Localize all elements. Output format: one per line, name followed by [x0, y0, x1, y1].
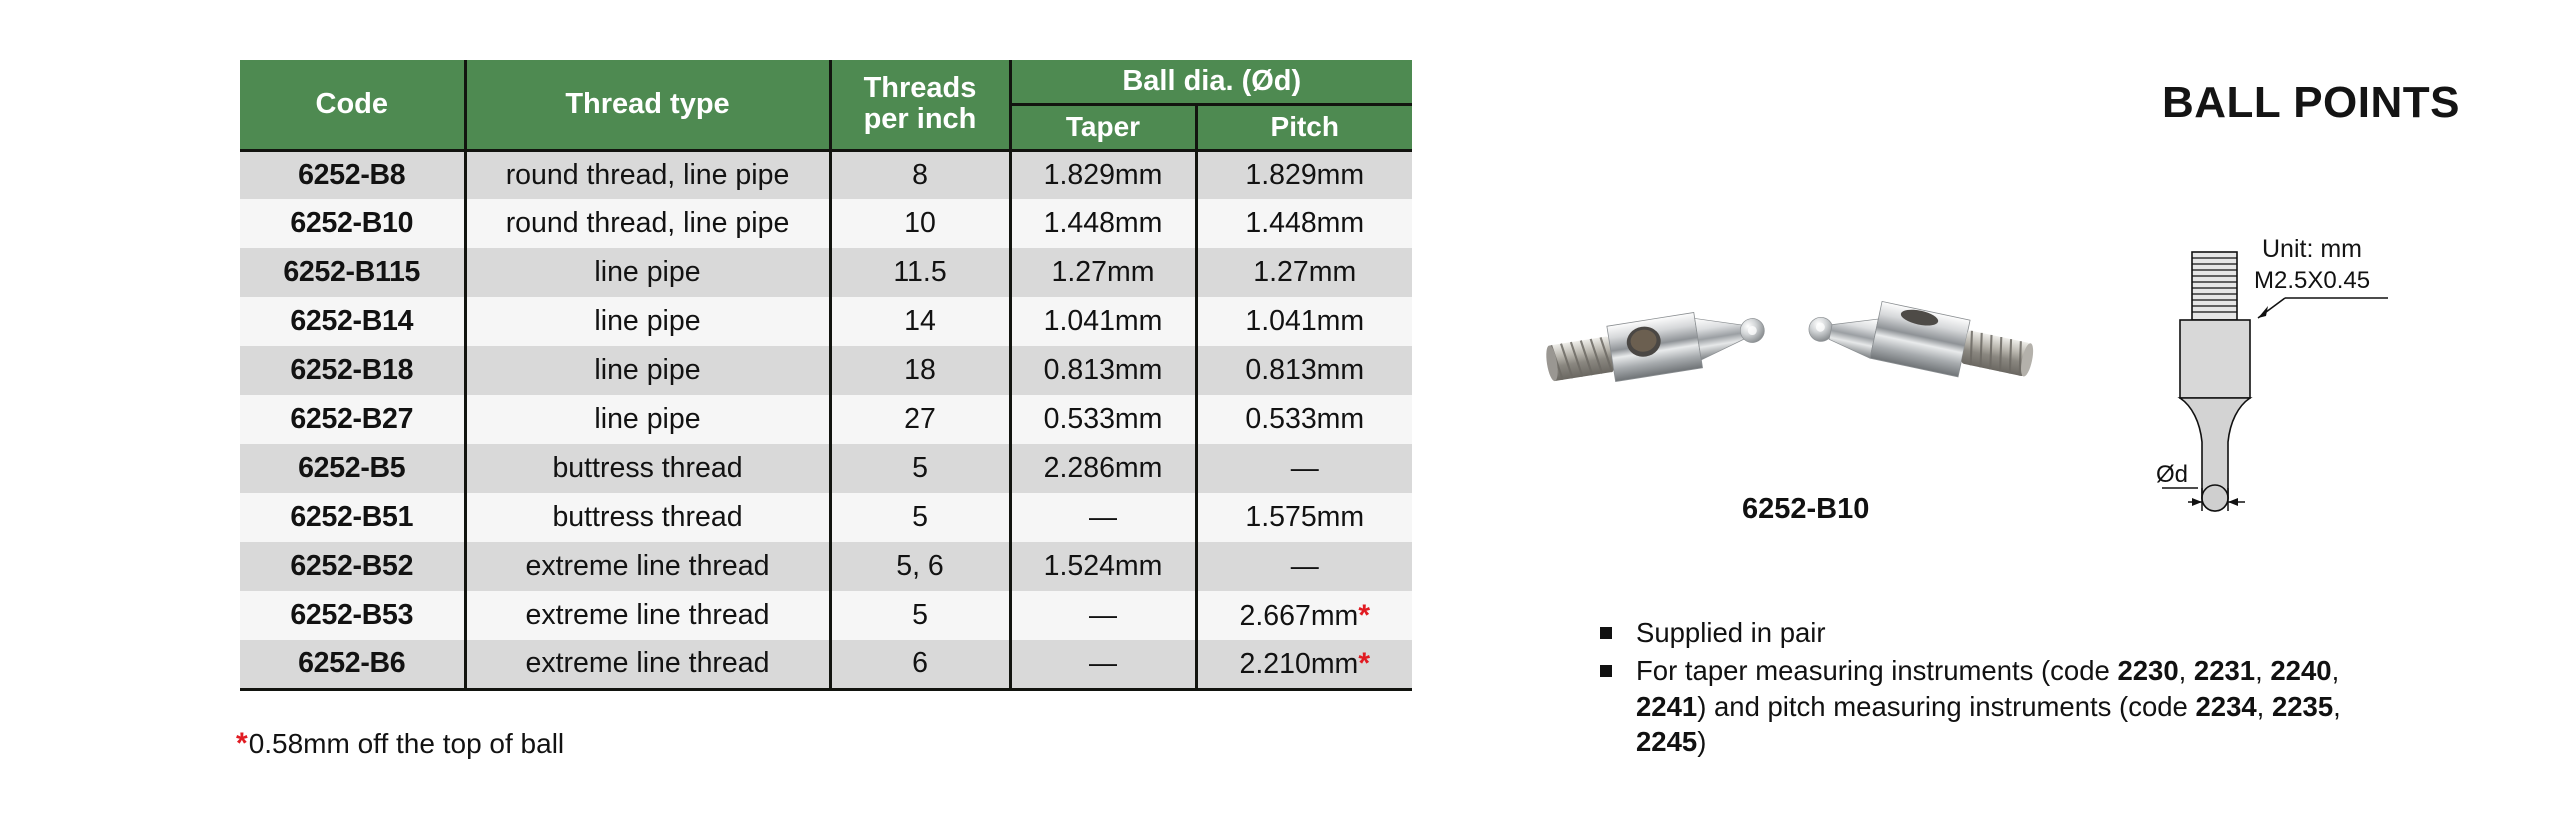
- cell-code: 6252-B18: [240, 346, 465, 395]
- column-header-threads-per-inch: Threads per inch: [830, 60, 1010, 150]
- cell-code-text: 6252-B10: [290, 207, 413, 239]
- table-row: 6252-B52extreme line thread5, 61.524mm—: [240, 542, 1412, 591]
- column-header-taper: Taper: [1010, 105, 1196, 150]
- cell-taper-text: —: [1089, 599, 1117, 630]
- cell-pitch-text: 1.041mm: [1245, 305, 1364, 337]
- cell-thread-type: buttress thread: [465, 444, 830, 493]
- table-row: 6252-B51buttress thread5—1.575mm: [240, 493, 1412, 542]
- cell-code-text: 6252-B51: [290, 501, 413, 533]
- cell-thread-type: line pipe: [465, 248, 830, 297]
- bullet-square-icon: [1600, 627, 1612, 639]
- cell-taper-text: 1.829mm: [1044, 159, 1163, 191]
- cell-taper-text: 0.813mm: [1044, 354, 1163, 386]
- bullet-square-icon: [1600, 665, 1612, 677]
- cell-code: 6252-B51: [240, 493, 465, 542]
- cell-code-text: 6252-B14: [290, 305, 413, 337]
- cell-threads-per-inch: 14: [830, 297, 1010, 346]
- cell-thread-type-text: round thread, line pipe: [506, 207, 790, 239]
- cell-thread-type: extreme line thread: [465, 542, 830, 591]
- cell-threads-per-inch-text: 5: [912, 452, 928, 484]
- table-row: 6252-B53extreme line thread5—2.667mm*: [240, 591, 1412, 640]
- cell-taper: 0.533mm: [1010, 395, 1196, 444]
- ball-point-dimension-drawing-svg: M2.5X0.45 Ød: [2150, 230, 2480, 570]
- cell-pitch-text: 1.448mm: [1245, 207, 1364, 239]
- table-row: 6252-B27line pipe270.533mm0.533mm: [240, 395, 1412, 444]
- cell-thread-type-text: line pipe: [594, 256, 700, 288]
- cell-taper-text: —: [1089, 647, 1117, 678]
- cell-thread-type-text: line pipe: [594, 354, 700, 386]
- cell-taper: 1.27mm: [1010, 248, 1196, 297]
- cell-code: 6252-B6: [240, 640, 465, 689]
- cell-code-text: 6252-B18: [290, 354, 413, 386]
- technical-drawing: M2.5X0.45 Ød: [2150, 230, 2480, 570]
- table-row: 6252-B6extreme line thread6—2.210mm*: [240, 640, 1412, 689]
- cell-threads-per-inch: 6: [830, 640, 1010, 689]
- cell-threads-per-inch-text: 18: [904, 354, 936, 386]
- cell-thread-type-text: extreme line thread: [526, 647, 770, 679]
- cell-threads-per-inch: 5: [830, 444, 1010, 493]
- cell-pitch: 0.813mm: [1196, 346, 1412, 395]
- cell-taper-text: 0.533mm: [1044, 403, 1163, 435]
- column-header-code: Code: [240, 60, 465, 150]
- cell-code: 6252-B27: [240, 395, 465, 444]
- cell-threads-per-inch: 5: [830, 493, 1010, 542]
- ball-dia-label: Ød: [2156, 461, 2188, 488]
- cell-threads-per-inch: 8: [830, 150, 1010, 199]
- cell-code-text: 6252-B8: [298, 159, 405, 191]
- cell-pitch-text: 1.575mm: [1245, 501, 1364, 533]
- cell-threads-per-inch-text: 14: [904, 305, 936, 337]
- cell-taper-text: —: [1089, 501, 1117, 532]
- cell-pitch: 1.829mm: [1196, 150, 1412, 199]
- cell-taper: 2.286mm: [1010, 444, 1196, 493]
- table-header: Code Thread type Threads per inch Ball d…: [240, 60, 1412, 150]
- cell-threads-per-inch: 5, 6: [830, 542, 1010, 591]
- cell-threads-per-inch-text: 5: [912, 501, 928, 533]
- page-title: BALL POINTS: [2162, 78, 2460, 128]
- cell-threads-per-inch: 18: [830, 346, 1010, 395]
- notes-list: Supplied in pairFor taper measuring inst…: [1598, 615, 2358, 762]
- cell-taper: 0.813mm: [1010, 346, 1196, 395]
- cell-threads-per-inch: 27: [830, 395, 1010, 444]
- cell-thread-type: buttress thread: [465, 493, 830, 542]
- cell-pitch: —: [1196, 542, 1412, 591]
- cell-thread-type: line pipe: [465, 395, 830, 444]
- thread-spec-leader: [2258, 298, 2388, 318]
- threads-per-inch-line2: per inch: [864, 103, 977, 135]
- cell-thread-type-text: line pipe: [594, 403, 700, 435]
- cell-pitch-text: 2.667mm: [1240, 600, 1359, 632]
- ball-point-pair-photo-svg: [1535, 270, 2075, 470]
- footnote: *0.58mm off the top of ball: [236, 727, 564, 761]
- cell-pitch-text: —: [1291, 550, 1319, 581]
- thread-spec-label: M2.5X0.45: [2254, 267, 2370, 294]
- cell-thread-type: round thread, line pipe: [465, 150, 830, 199]
- footnote-asterisk-marker: *: [236, 727, 248, 760]
- cell-pitch-text: —: [1291, 452, 1319, 483]
- cell-code-text: 6252-B52: [290, 550, 413, 582]
- cell-threads-per-inch-text: 8: [912, 159, 928, 191]
- cell-threads-per-inch-text: 5, 6: [896, 550, 944, 582]
- asterisk-marker: *: [1358, 647, 1370, 680]
- cell-taper: —: [1010, 640, 1196, 689]
- product-photo: [1535, 270, 2075, 470]
- cell-thread-type-text: buttress thread: [552, 452, 742, 484]
- table-body: 6252-B8round thread, line pipe81.829mm1.…: [240, 150, 1412, 689]
- column-header-thread-type: Thread type: [465, 60, 830, 150]
- cell-taper-text: 1.041mm: [1044, 305, 1163, 337]
- asterisk-marker: *: [1358, 599, 1370, 632]
- cell-threads-per-inch-text: 6: [912, 647, 928, 679]
- note-item: For taper measuring instruments (code 22…: [1598, 653, 2358, 760]
- cell-code: 6252-B115: [240, 248, 465, 297]
- cell-code: 6252-B14: [240, 297, 465, 346]
- threads-per-inch-line1: Threads: [864, 72, 977, 104]
- cell-pitch: 0.533mm: [1196, 395, 1412, 444]
- note-text: Supplied in pair: [1636, 617, 1826, 648]
- cell-code-text: 6252-B115: [283, 256, 420, 288]
- cell-thread-type: line pipe: [465, 297, 830, 346]
- note-item: Supplied in pair: [1598, 615, 2358, 651]
- footnote-text: 0.58mm off the top of ball: [249, 728, 564, 759]
- cell-code: 6252-B8: [240, 150, 465, 199]
- cell-pitch-text: 0.813mm: [1245, 354, 1364, 386]
- cell-pitch: 2.210mm*: [1196, 640, 1412, 689]
- cell-thread-type-text: line pipe: [594, 305, 700, 337]
- cell-taper-text: 1.27mm: [1052, 256, 1155, 288]
- cell-thread-type-text: extreme line thread: [526, 550, 770, 582]
- cell-threads-per-inch-text: 10: [904, 207, 936, 239]
- table-row: 6252-B8round thread, line pipe81.829mm1.…: [240, 150, 1412, 199]
- table-row: 6252-B5buttress thread52.286mm—: [240, 444, 1412, 493]
- cell-threads-per-inch: 5: [830, 591, 1010, 640]
- cell-code: 6252-B52: [240, 542, 465, 591]
- cell-taper-text: 1.524mm: [1044, 550, 1163, 582]
- cell-pitch-text: 2.210mm: [1240, 648, 1359, 680]
- cell-code-text: 6252-B6: [298, 647, 405, 679]
- cell-thread-type-text: buttress thread: [552, 501, 742, 533]
- ball-points-spec-table: Code Thread type Threads per inch Ball d…: [240, 60, 1412, 691]
- note-text: For taper measuring instruments (code 22…: [1636, 655, 2341, 758]
- column-header-pitch: Pitch: [1196, 105, 1412, 150]
- cell-pitch: 1.448mm: [1196, 199, 1412, 248]
- cell-threads-per-inch-text: 11.5: [893, 256, 946, 288]
- cell-threads-per-inch-text: 5: [912, 599, 928, 631]
- cell-taper: 1.041mm: [1010, 297, 1196, 346]
- cell-code: 6252-B5: [240, 444, 465, 493]
- cell-threads-per-inch: 11.5: [830, 248, 1010, 297]
- cell-thread-type: round thread, line pipe: [465, 199, 830, 248]
- cell-taper: 1.448mm: [1010, 199, 1196, 248]
- cell-pitch: —: [1196, 444, 1412, 493]
- cell-pitch: 2.667mm*: [1196, 591, 1412, 640]
- cell-pitch-text: 1.829mm: [1245, 159, 1364, 191]
- cell-pitch: 1.27mm: [1196, 248, 1412, 297]
- cell-code-text: 6252-B53: [290, 599, 413, 631]
- cell-thread-type: extreme line thread: [465, 640, 830, 689]
- cell-pitch-text: 1.27mm: [1253, 256, 1356, 288]
- table-row: 6252-B14line pipe141.041mm1.041mm: [240, 297, 1412, 346]
- cell-code-text: 6252-B5: [298, 452, 405, 484]
- cell-code-text: 6252-B27: [290, 403, 413, 435]
- cell-taper: 1.524mm: [1010, 542, 1196, 591]
- cell-threads-per-inch-text: 27: [904, 403, 936, 435]
- cell-pitch: 1.041mm: [1196, 297, 1412, 346]
- cell-taper: 1.829mm: [1010, 150, 1196, 199]
- cell-thread-type: line pipe: [465, 346, 830, 395]
- cell-thread-type: extreme line thread: [465, 591, 830, 640]
- spec-table-panel: Code Thread type Threads per inch Ball d…: [240, 60, 1412, 691]
- table-row: 6252-B10round thread, line pipe101.448mm…: [240, 199, 1412, 248]
- table-row: 6252-B18line pipe180.813mm0.813mm: [240, 346, 1412, 395]
- cell-threads-per-inch: 10: [830, 199, 1010, 248]
- column-header-ball-diameter: Ball dia. (Ød): [1010, 60, 1412, 105]
- cell-taper-text: 1.448mm: [1044, 207, 1163, 239]
- cell-taper: —: [1010, 591, 1196, 640]
- table-row: 6252-B115line pipe11.51.27mm1.27mm: [240, 248, 1412, 297]
- cell-thread-type-text: round thread, line pipe: [506, 159, 790, 191]
- cell-taper-text: 2.286mm: [1044, 452, 1163, 484]
- product-photo-label: 6252-B10: [1742, 493, 1869, 526]
- cell-thread-type-text: extreme line thread: [526, 599, 770, 631]
- cell-code: 6252-B10: [240, 199, 465, 248]
- cell-code: 6252-B53: [240, 591, 465, 640]
- cell-pitch-text: 0.533mm: [1245, 403, 1364, 435]
- cell-taper: —: [1010, 493, 1196, 542]
- cell-pitch: 1.575mm: [1196, 493, 1412, 542]
